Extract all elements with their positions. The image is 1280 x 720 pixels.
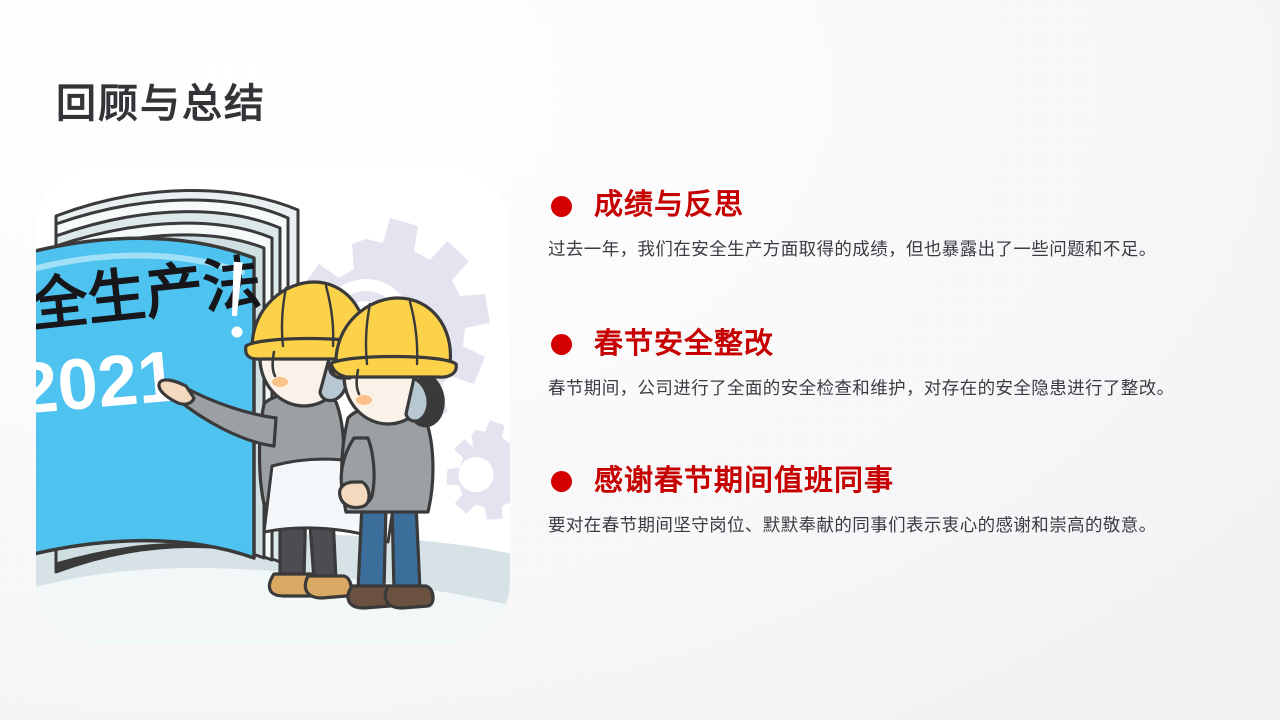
section-spacer <box>548 403 1238 462</box>
summary-sections: 成绩与反思 过去一年，我们在安全生产方面取得的成绩，但也暴露出了一些问题和不足。… <box>548 186 1238 540</box>
section-spacer <box>548 264 1238 325</box>
illustration-card: 全生产法 2021 <box>36 166 510 644</box>
section-title-0: 成绩与反思 <box>594 189 744 222</box>
slide-canvas: 回顾与总结 <box>0 0 1280 720</box>
bullet-dot-icon <box>551 196 572 217</box>
section-heading-0: 成绩与反思 <box>548 186 1238 226</box>
section-heading-2: 感谢春节期间值班同事 <box>548 462 1238 502</box>
section-item-0: 成绩与反思 过去一年，我们在安全生产方面取得的成绩，但也暴露出了一些问题和不足。 <box>548 186 1238 264</box>
section-title-2: 感谢春节期间值班同事 <box>594 465 894 498</box>
section-item-1: 春节安全整改 春节期间，公司进行了全面的安全检查和维护，对存在的安全隐患进行了整… <box>548 325 1238 403</box>
section-title-1: 春节安全整改 <box>594 328 774 361</box>
section-item-2: 感谢春节期间值班同事 要对在春节期间坚守岗位、默默奉献的同事们表示衷心的感谢和崇… <box>548 462 1238 540</box>
section-heading-1: 春节安全整改 <box>548 325 1238 365</box>
bullet-dot-icon <box>551 471 572 492</box>
bullet-dot-icon <box>551 334 572 355</box>
section-body-0: 过去一年，我们在安全生产方面取得的成绩，但也暴露出了一些问题和不足。 <box>548 235 1238 264</box>
safety-law-book-workers-illustration: 全生产法 2021 <box>36 166 510 644</box>
section-body-1: 春节期间，公司进行了全面的安全检查和维护，对存在的安全隐患进行了整改。 <box>548 374 1238 403</box>
section-body-2: 要对在春节期间坚守岗位、默默奉献的同事们表示衷心的感谢和崇高的敬意。 <box>548 511 1238 540</box>
page-title: 回顾与总结 <box>56 82 266 126</box>
